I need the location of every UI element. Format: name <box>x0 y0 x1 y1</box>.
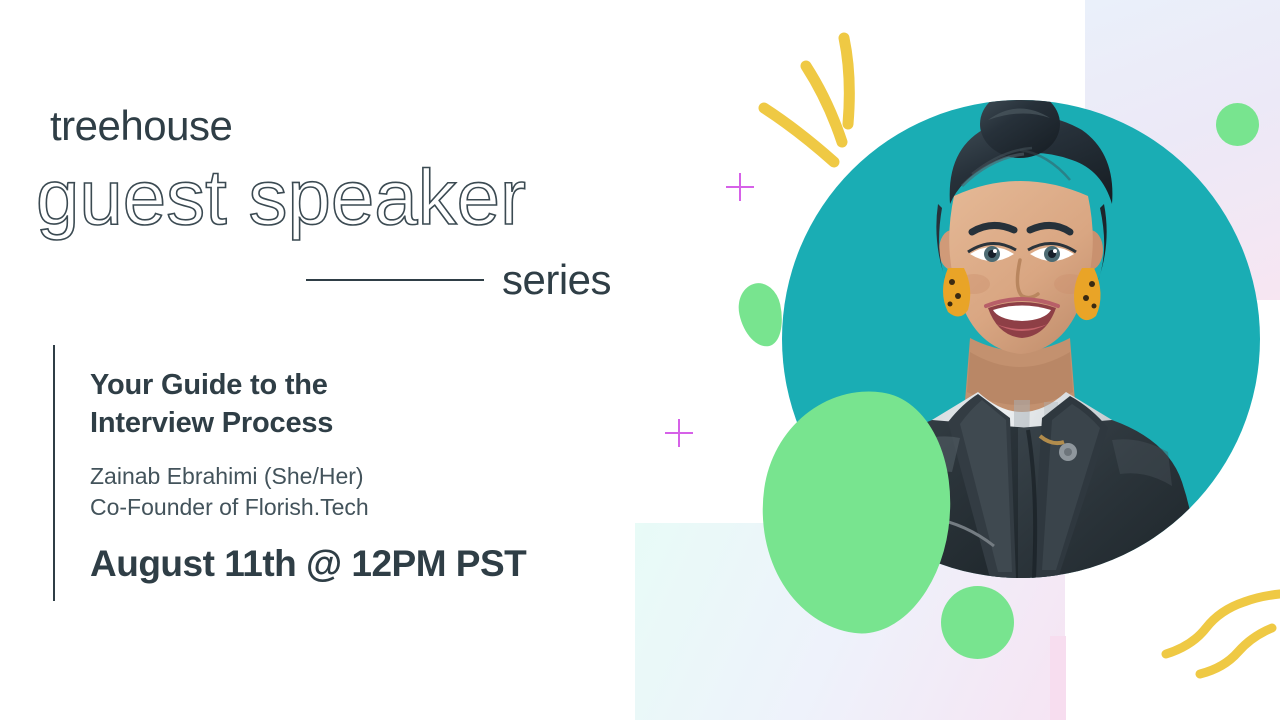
green-circle-right <box>1216 103 1259 146</box>
yellow-wave-strokes <box>1160 588 1280 688</box>
poster-canvas: treehouse guest speaker series Your Guid… <box>0 0 1280 720</box>
yellow-ray-strokes <box>748 30 888 210</box>
detail-vertical-rule <box>53 345 55 601</box>
green-circle-bottom <box>941 586 1014 659</box>
series-divider-rule <box>306 279 484 281</box>
series-label: series <box>502 259 611 301</box>
headline-outline: guest speaker <box>36 158 526 236</box>
brand-wordmark: treehouse <box>50 105 232 147</box>
pastel-panel-bottom-right <box>1050 636 1066 720</box>
green-bean-shape <box>734 279 788 350</box>
plus-mark-lower <box>665 419 693 447</box>
plus-mark-upper <box>726 173 754 201</box>
speaker-role: Co-Founder of Florish.Tech <box>90 492 650 524</box>
event-detail-block: Your Guide to the Interview Process Zain… <box>90 366 650 585</box>
talk-title: Your Guide to the Interview Process <box>90 366 650 443</box>
speaker-name: Zainab Ebrahimi (She/Her) <box>90 461 650 493</box>
event-datetime: August 11th @ 12PM PST <box>90 544 650 585</box>
series-row: series <box>306 256 626 304</box>
